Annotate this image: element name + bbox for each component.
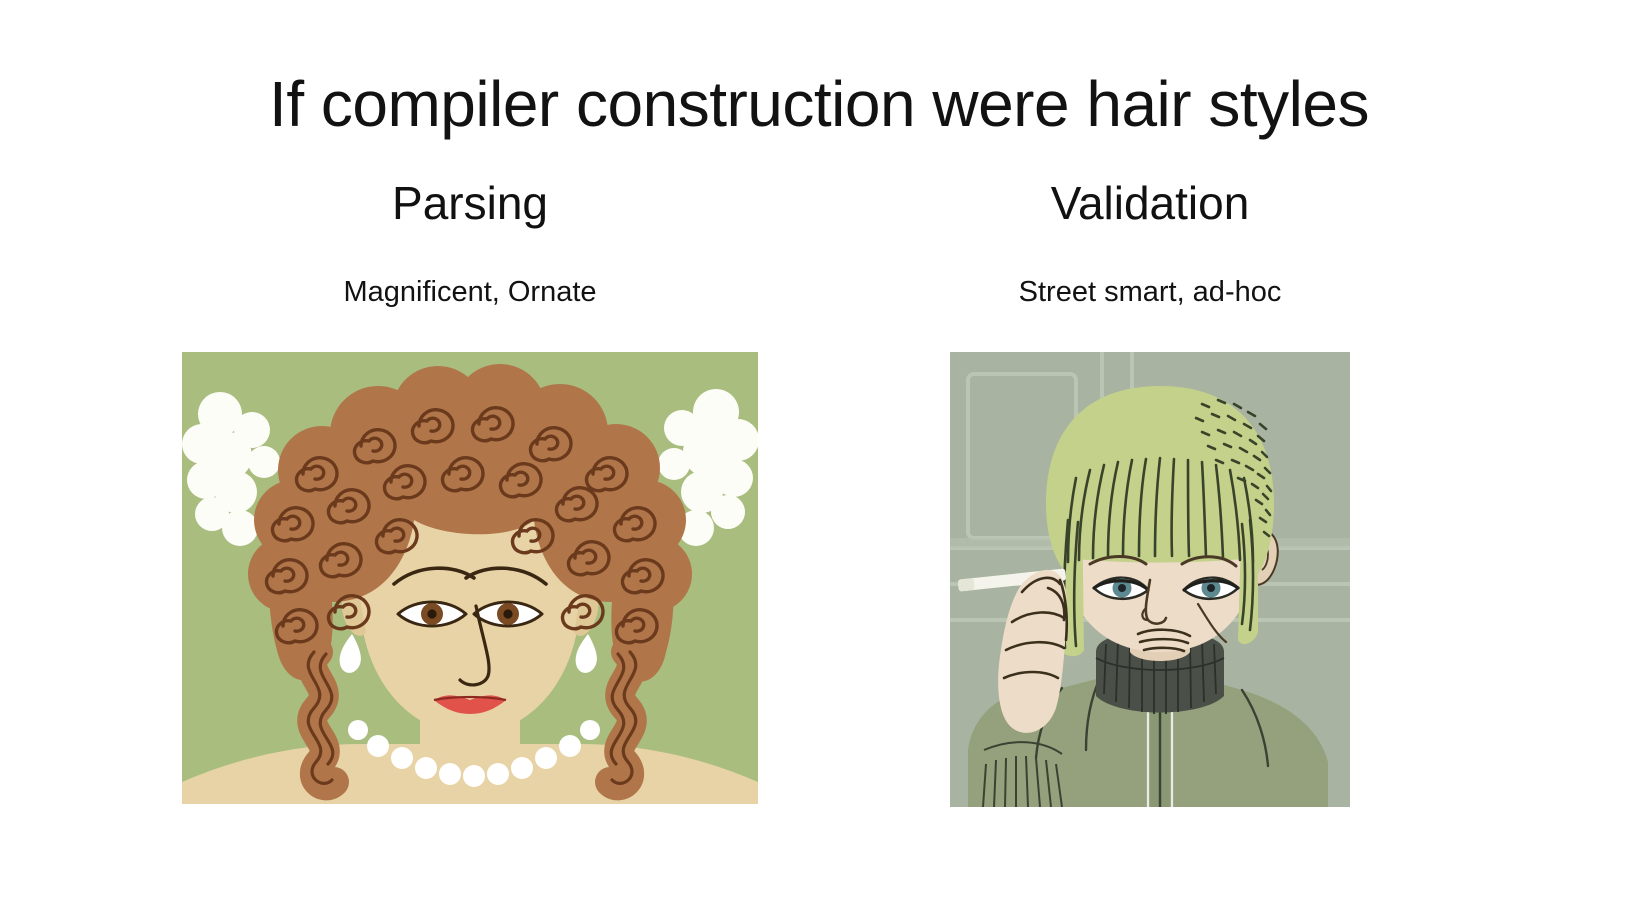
figure-wrap-parsing (110, 310, 830, 804)
comparison-columns: Parsing Magnificent, Ornate (0, 170, 1638, 870)
illustration-ornate-curly-hair (182, 352, 758, 804)
column-subtitle-validation: Street smart, ad-hoc (790, 231, 1510, 310)
column-heading-validation: Validation (790, 170, 1510, 231)
column-parsing: Parsing Magnificent, Ornate (110, 170, 830, 804)
page-title: If compiler construction were hair style… (0, 69, 1638, 139)
column-validation: Validation Street smart, ad-hoc (790, 170, 1510, 807)
illustration-street-smart-bowl-cut (950, 352, 1350, 807)
column-heading-parsing: Parsing (110, 170, 830, 231)
slide: If compiler construction were hair style… (0, 0, 1638, 920)
figure-wrap-validation (790, 310, 1510, 807)
column-subtitle-parsing: Magnificent, Ornate (110, 231, 830, 310)
